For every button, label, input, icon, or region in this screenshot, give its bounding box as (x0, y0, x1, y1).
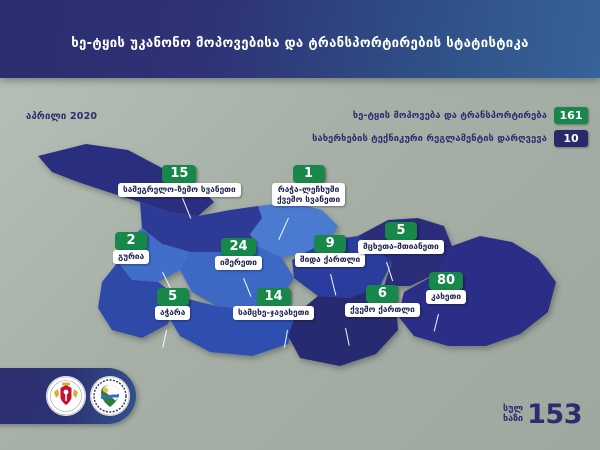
marker-adjara[interactable]: 5 აჭარა (155, 288, 190, 320)
marker-value: 1 (293, 165, 325, 183)
infographic-poster: ხე-ტყის უკანონო მოპოვებისა და ტრანსპორტი… (0, 0, 600, 450)
marker-racha-lechkhumi-kvemo-svaneti[interactable]: 1 რაჭა-ლეჩხუმი ქვემო სვანეთი (272, 165, 345, 206)
marker-label: შიდა ქართლი (295, 253, 365, 267)
total-label: სულ ხაზი (503, 405, 523, 424)
marker-label: მცხეთა-მთიანეთი (358, 240, 444, 254)
marker-shida-kartli[interactable]: 9 შიდა ქართლი (295, 235, 365, 267)
national-coat-of-arms-emblem-icon (46, 376, 86, 416)
legend-label: ხე-ტყის მოპოვება და ტრანსპორტირება (353, 110, 547, 121)
date-label: აპრილი 2020 (26, 111, 97, 122)
marker-value: 14 (257, 288, 291, 306)
marker-imereti[interactable]: 24 იმერეთი (215, 238, 262, 270)
logo-bar (0, 368, 136, 424)
legend-badge-value: 161 (554, 107, 588, 124)
environmental-supervision-emblem-icon (90, 376, 130, 416)
marker-label: ქვემო ქართლი (345, 303, 420, 317)
marker-label: აჭარა (155, 306, 190, 320)
header-banner: ხე-ტყის უკანონო მოპოვებისა და ტრანსპორტი… (0, 0, 600, 78)
marker-value: 9 (314, 235, 346, 253)
marker-value: 2 (115, 232, 147, 250)
marker-guria[interactable]: 2 გურია (113, 232, 149, 264)
total-value: 153 (527, 401, 582, 428)
legend-row-illegal-logging: ხე-ტყის მოპოვება და ტრანსპორტირება 161 (188, 105, 588, 125)
supervision-emblem-svg (90, 376, 130, 416)
marker-kvemo-kartli[interactable]: 6 ქვემო ქართლი (345, 285, 420, 317)
georgia-map: 15 სამეგრელო-ზემო სვანეთი 1 რაჭა-ლეჩხუმი… (0, 140, 600, 400)
marker-kakheti[interactable]: 80 კახეთი (426, 272, 466, 304)
marker-value: 15 (162, 165, 196, 183)
marker-label: კახეთი (426, 290, 466, 304)
marker-label: სამცხე-ჯავახეთი (233, 306, 314, 320)
marker-value: 5 (157, 288, 189, 306)
marker-label: გურია (113, 250, 149, 264)
marker-value: 5 (385, 222, 417, 240)
marker-label: სამეგრელო-ზემო სვანეთი (118, 183, 241, 197)
marker-samegrelo-zemo-svaneti[interactable]: 15 სამეგრელო-ზემო სვანეთი (118, 165, 241, 197)
marker-mtskheta-mtianeti[interactable]: 5 მცხეთა-მთიანეთი (358, 222, 444, 254)
marker-label: რაჭა-ლეჩხუმი ქვემო სვანეთი (272, 183, 345, 206)
marker-label: იმერეთი (215, 256, 262, 270)
page-title: ხე-ტყის უკანონო მოპოვებისა და ტრანსპორტი… (0, 36, 600, 51)
marker-value: 6 (366, 285, 398, 303)
marker-value: 24 (221, 238, 255, 256)
marker-value: 80 (429, 272, 463, 290)
marker-label-line2: ქვემო სვანეთი (277, 194, 340, 204)
total-block: სულ ხაზი 153 (503, 401, 582, 428)
marker-samtskhe-javakheti[interactable]: 14 სამცხე-ჯავახეთი (233, 288, 314, 320)
total-label-line2: ხაზი (503, 414, 523, 424)
marker-label-line1: რაჭა-ლეჩხუმი (278, 184, 339, 194)
coat-of-arms-svg (46, 376, 86, 416)
